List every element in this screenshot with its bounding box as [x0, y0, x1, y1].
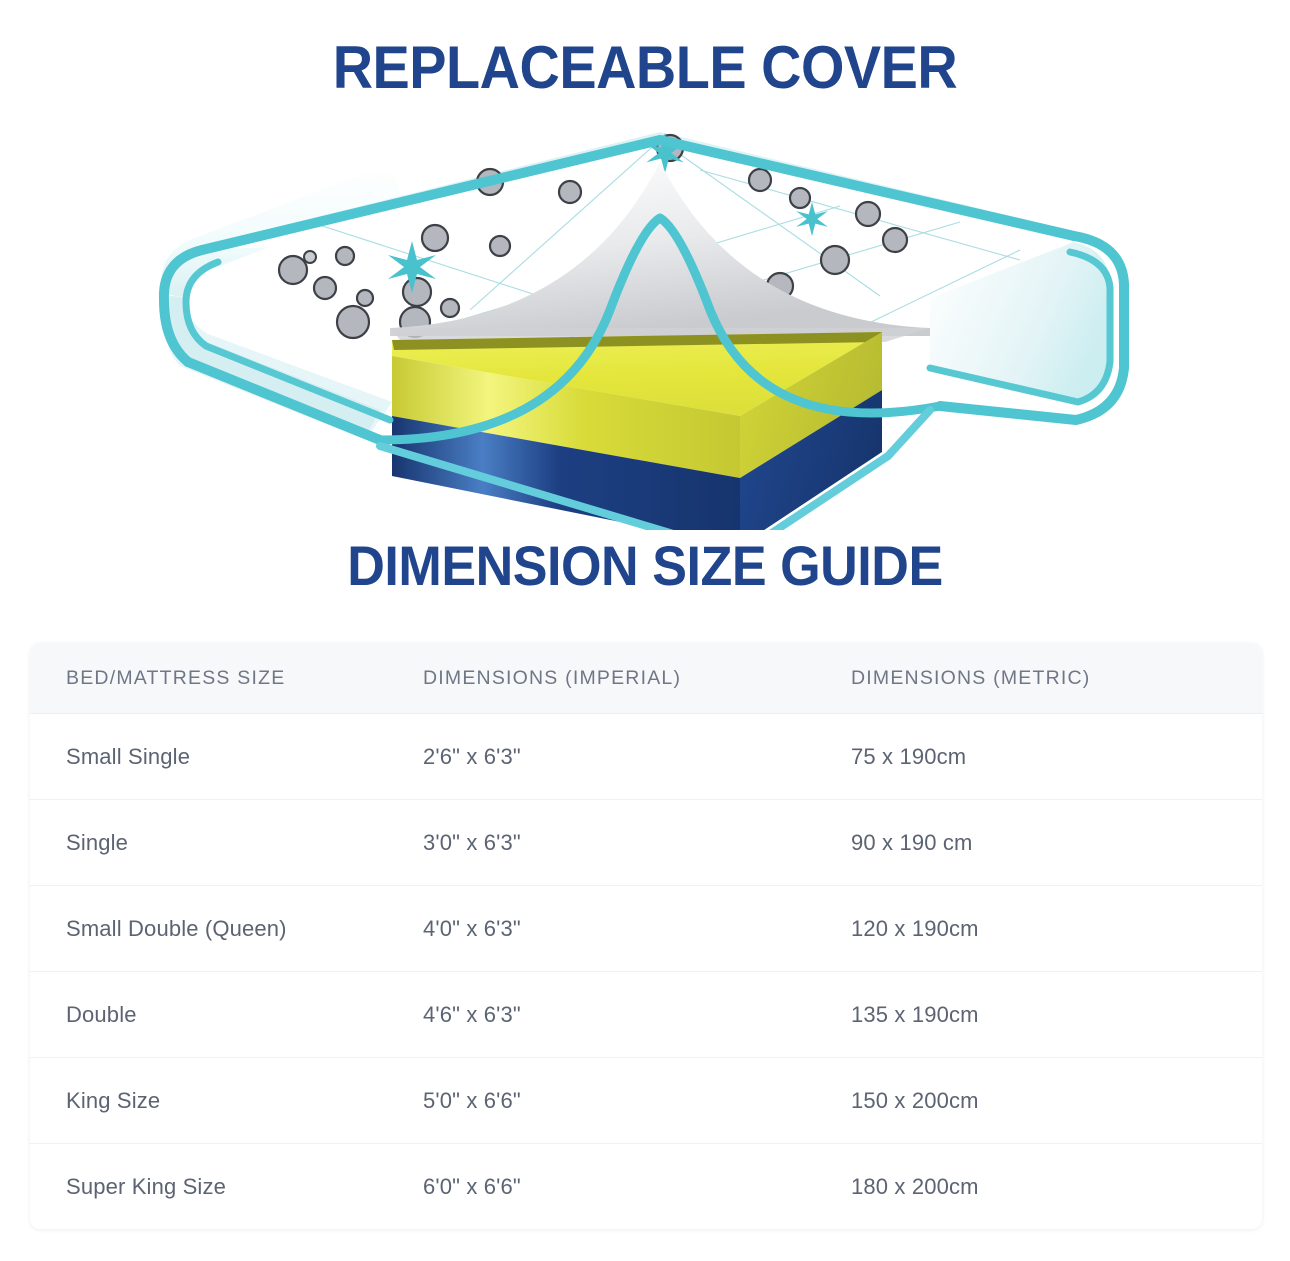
- mattress-illustration: [140, 110, 1140, 530]
- table-row: Double 4'6" x 6'3" 135 x 190cm: [30, 972, 1262, 1058]
- cell-bed-size: Single: [30, 830, 423, 856]
- cell-metric: 180 x 200cm: [851, 1174, 1262, 1200]
- table-row: Single 3'0" x 6'3" 90 x 190 cm: [30, 800, 1262, 886]
- cell-metric: 120 x 190cm: [851, 916, 1262, 942]
- cell-bed-size: Small Single: [30, 744, 423, 770]
- cell-imperial: 4'6" x 6'3": [423, 1002, 851, 1028]
- column-header-imperial: DIMENSIONS (IMPERIAL): [423, 667, 851, 690]
- cell-bed-size: Super King Size: [30, 1174, 423, 1200]
- cell-bed-size: Double: [30, 1002, 423, 1028]
- cell-imperial: 5'0" x 6'6": [423, 1088, 851, 1114]
- cover-bottom-hem-right: [888, 410, 930, 456]
- page-title-replaceable-cover: REPLACEABLE COVER: [45, 38, 1245, 98]
- cell-imperial: 6'0" x 6'6": [423, 1174, 851, 1200]
- cell-imperial: 2'6" x 6'3": [423, 744, 851, 770]
- table-row: Small Single 2'6" x 6'3" 75 x 190cm: [30, 714, 1262, 800]
- column-header-metric: DIMENSIONS (METRIC): [851, 667, 1262, 690]
- column-header-bed-size: BED/MATTRESS SIZE: [30, 667, 423, 690]
- cell-imperial: 4'0" x 6'3": [423, 916, 851, 942]
- table-row: Super King Size 6'0" x 6'6" 180 x 200cm: [30, 1144, 1262, 1229]
- table-row: King Size 5'0" x 6'6" 150 x 200cm: [30, 1058, 1262, 1144]
- cell-bed-size: King Size: [30, 1088, 423, 1114]
- cell-metric: 75 x 190cm: [851, 744, 1262, 770]
- dust-particles-small: [304, 251, 316, 263]
- mattress-illustration-svg: [140, 110, 1140, 530]
- cell-metric: 150 x 200cm: [851, 1088, 1262, 1114]
- cell-metric: 90 x 190 cm: [851, 830, 1262, 856]
- page-title-dimension-size-guide: DIMENSION SIZE GUIDE: [45, 538, 1245, 594]
- cell-metric: 135 x 190cm: [851, 1002, 1262, 1028]
- table-header-row: BED/MATTRESS SIZE DIMENSIONS (IMPERIAL) …: [30, 643, 1262, 714]
- dimension-size-table: BED/MATTRESS SIZE DIMENSIONS (IMPERIAL) …: [30, 643, 1262, 1229]
- page-root: REPLACEABLE COVER: [0, 0, 1290, 1261]
- cell-imperial: 3'0" x 6'3": [423, 830, 851, 856]
- cell-bed-size: Small Double (Queen): [30, 916, 423, 942]
- table-row: Small Double (Queen) 4'0" x 6'3" 120 x 1…: [30, 886, 1262, 972]
